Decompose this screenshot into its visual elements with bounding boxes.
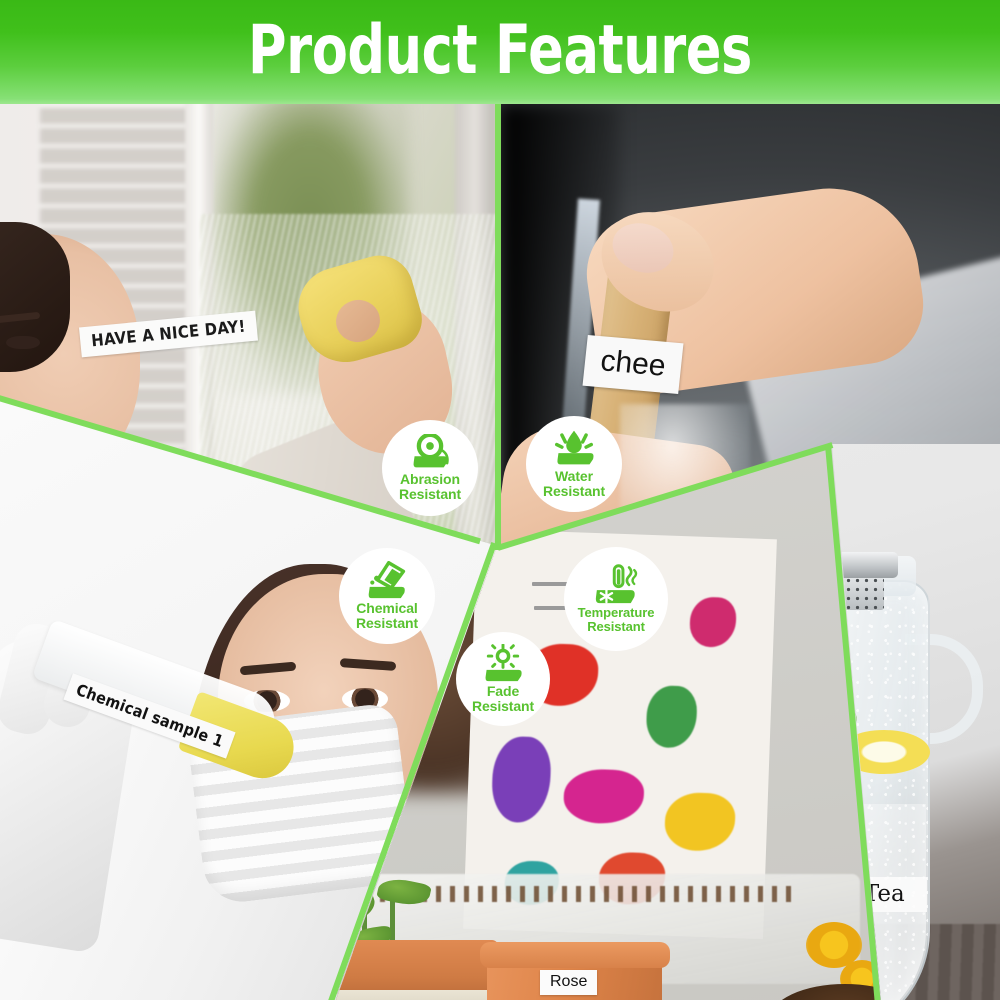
badge-chemical-resistant[interactable]: ChemicalResistant: [339, 548, 435, 644]
divider-vertical-top: [495, 104, 501, 550]
badge-water-resistant[interactable]: WaterResistant: [526, 416, 622, 512]
fabric-flower-purple: [491, 736, 552, 824]
sun-icon: [481, 644, 525, 682]
fabric-flower-magenta: [563, 768, 645, 825]
badge-fade-resistant[interactable]: FadeResistant: [456, 632, 550, 726]
label-rose: Rose: [540, 970, 597, 995]
page-title: Product Features: [70, 15, 930, 87]
feature-photo-collage: HAVE A NICE DAY! chee: [0, 104, 1000, 1000]
thermometer-snowflake-heat-icon: [593, 564, 639, 604]
badge-temperature-label: TemperatureResistant: [578, 606, 655, 634]
label-chee: chee: [583, 335, 684, 394]
badge-water-label: WaterResistant: [543, 469, 605, 499]
tape-roll-icon: [409, 434, 451, 470]
terracotta-pot-rim: [480, 942, 670, 968]
badge-fade-label: FadeResistant: [472, 684, 534, 714]
header-banner: Product Features: [0, 0, 1000, 107]
spilled-soil: [380, 886, 800, 902]
test-tube-pouring-icon: [365, 561, 409, 599]
badge-temperature-resistant[interactable]: TemperatureResistant: [564, 547, 668, 651]
fabric-flower-yellow: [664, 792, 736, 852]
water-droplet-splash-icon: [552, 429, 596, 467]
badge-abrasion-resistant[interactable]: AbrasionResistant: [382, 420, 478, 516]
fabric-flower-pink: [689, 596, 737, 648]
woman-eye: [6, 336, 40, 349]
badge-chemical-label: ChemicalResistant: [356, 601, 418, 631]
badge-abrasion-label: AbrasionResistant: [399, 472, 461, 502]
fabric-leaf-green: [646, 685, 698, 749]
